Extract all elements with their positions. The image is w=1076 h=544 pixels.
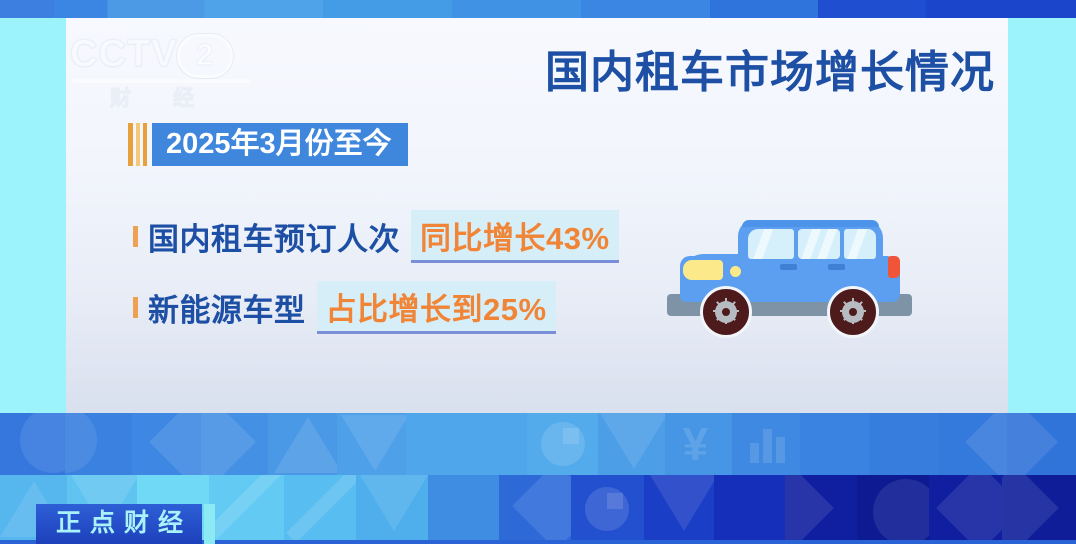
banner-tile bbox=[209, 475, 283, 540]
car-wheel-rear bbox=[700, 286, 752, 338]
car-wheel-front bbox=[827, 286, 879, 338]
bullet-tick-icon bbox=[133, 297, 138, 318]
yen-currency-icon: ¥ bbox=[683, 421, 709, 467]
banner-tile bbox=[499, 475, 571, 540]
car-wheel-hub bbox=[715, 301, 737, 323]
banner-tile bbox=[132, 413, 201, 475]
car-illustration bbox=[660, 198, 925, 348]
banner-tile-pie bbox=[527, 413, 598, 475]
car-window-middle bbox=[798, 229, 840, 259]
banner-tile bbox=[857, 475, 929, 540]
car-roof-strip bbox=[742, 220, 879, 227]
banner-tile bbox=[201, 413, 268, 475]
cctv-2-logo-watermark: CCTV 2 财 经 bbox=[70, 32, 260, 104]
stat-highlight-value: 占比增长到25% bbox=[317, 281, 556, 334]
banner-upper-row: ¥ bbox=[0, 413, 1076, 475]
banner-tile bbox=[0, 413, 65, 475]
car-taillight bbox=[888, 256, 900, 278]
banner-tile bbox=[337, 413, 406, 475]
car-window-rear bbox=[844, 229, 876, 259]
cctv-channel-number: 2 bbox=[196, 37, 213, 73]
car-wheel-hub bbox=[842, 301, 864, 323]
car-door-handle-rear bbox=[828, 264, 845, 270]
page-title: 国内租车市场增长情况 bbox=[545, 36, 995, 100]
banner-tile bbox=[428, 475, 498, 540]
broadcast-graphic-screen: CCTV 2 财 经 国内租车市场增长情况 2025年3月份至今 国内租车预订人… bbox=[0, 0, 1076, 544]
bar-chart-icon bbox=[750, 427, 785, 463]
banner-tile bbox=[1007, 413, 1076, 475]
stat-label: 国内租车预订人次 bbox=[148, 214, 400, 259]
right-cyan-accent-block bbox=[1008, 18, 1076, 413]
top-decorative-band bbox=[0, 0, 1076, 18]
pie-chart-icon bbox=[585, 487, 629, 531]
badge-accent-bar-3 bbox=[143, 123, 147, 166]
badge-accent-bar-2 bbox=[136, 123, 140, 166]
banner-tile bbox=[869, 413, 938, 475]
banner-tile bbox=[785, 475, 857, 540]
banner-tile-bars bbox=[732, 413, 801, 475]
banner-tile bbox=[65, 413, 132, 475]
banner-tile bbox=[644, 475, 714, 540]
banner-tile bbox=[406, 413, 527, 475]
stat-row: 国内租车预订人次 同比增长43% bbox=[133, 210, 619, 263]
bullet-tick-icon bbox=[133, 226, 138, 247]
banner-tile bbox=[938, 413, 1007, 475]
stat-row: 新能源车型 占比增长到25% bbox=[133, 281, 556, 334]
banner-tile bbox=[356, 475, 428, 540]
stat-highlight-value: 同比增长43% bbox=[411, 210, 619, 263]
period-badge-label: 2025年3月份至今 bbox=[152, 123, 408, 166]
program-tag-cap bbox=[204, 504, 215, 544]
car-fog-lamp bbox=[730, 266, 741, 277]
banner-tile-pie bbox=[571, 475, 643, 540]
badge-accent-bar-1 bbox=[128, 123, 133, 166]
program-tag-label: 正点财经 bbox=[36, 504, 202, 544]
program-tag: 正点财经 bbox=[36, 504, 215, 544]
cctv-logo-subtitle: 财 经 bbox=[110, 82, 212, 112]
car-headlight bbox=[683, 260, 723, 280]
banner-tile bbox=[268, 413, 337, 475]
banner-tile bbox=[800, 413, 869, 475]
banner-tile bbox=[714, 475, 784, 540]
banner-tile bbox=[598, 413, 665, 475]
banner-tile bbox=[284, 475, 356, 540]
car-door-handle-front bbox=[780, 264, 797, 270]
pie-chart-icon bbox=[541, 422, 585, 466]
period-badge: 2025年3月份至今 bbox=[128, 123, 408, 166]
banner-tile-yen: ¥ bbox=[665, 413, 732, 475]
stat-label: 新能源车型 bbox=[148, 285, 306, 330]
banner-tile bbox=[929, 475, 1001, 540]
left-cyan-accent-block bbox=[0, 18, 66, 413]
banner-tile bbox=[1002, 475, 1076, 540]
car-window-front bbox=[748, 229, 794, 259]
